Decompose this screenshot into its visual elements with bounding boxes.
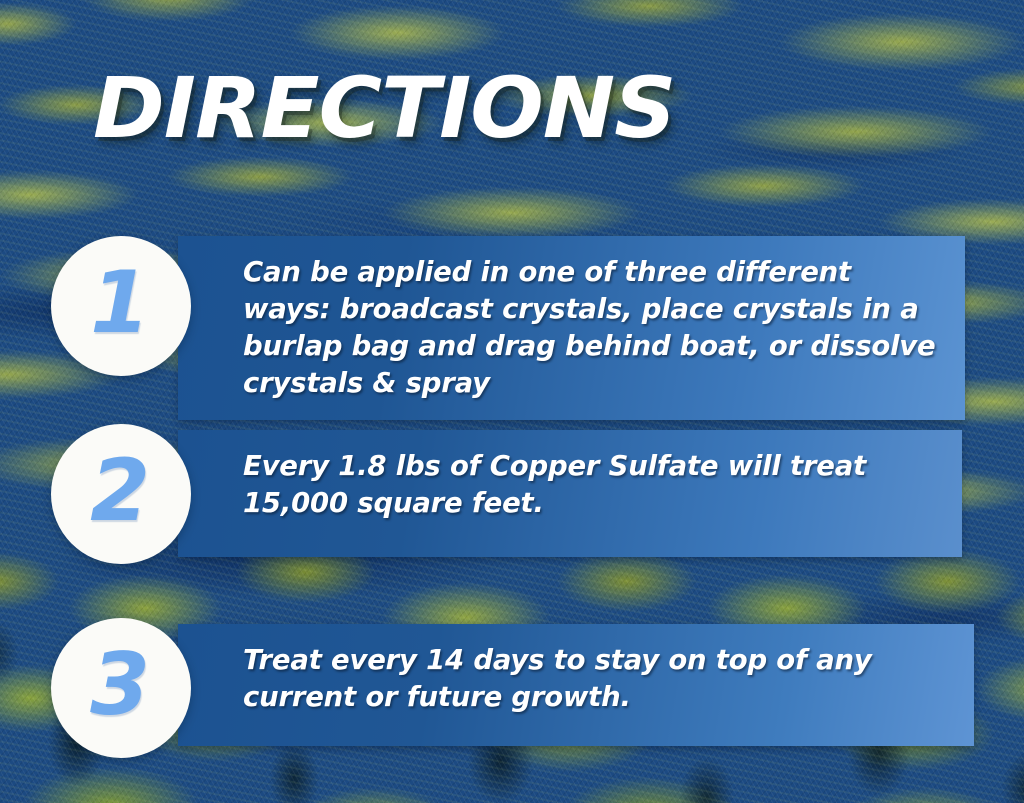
step-text-3: Treat every 14 days to stay on top of an… [243, 644, 872, 713]
step-badge-2: 2 [51, 424, 191, 564]
step-banner-2: Every 1.8 lbs of Copper Sulfate will tre… [178, 430, 962, 557]
step-text-1: Can be applied in one of three different… [243, 256, 935, 399]
step-number-2: 2 [90, 448, 150, 534]
step-banner-1: Can be applied in one of three different… [178, 236, 965, 420]
step-number-1: 1 [90, 260, 150, 346]
step-text-2: Every 1.8 lbs of Copper Sulfate will tre… [243, 450, 866, 519]
step-banner-3: Treat every 14 days to stay on top of an… [178, 624, 974, 746]
directions-poster: DIRECTIONS Can be applied in one of thre… [0, 0, 1024, 803]
step-number-3: 3 [90, 642, 150, 728]
step-badge-3: 3 [51, 618, 191, 758]
step-badge-1: 1 [51, 236, 191, 376]
page-title: DIRECTIONS [93, 66, 675, 150]
